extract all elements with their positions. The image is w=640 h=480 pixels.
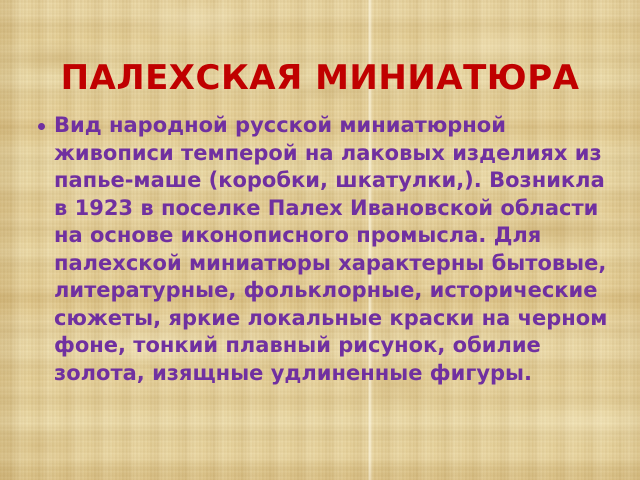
list-item-text: Вид народной русской миниатюрной живопис… xyxy=(54,112,610,387)
slide-body-list: Вид народной русской миниатюрной живопис… xyxy=(30,112,610,387)
slide-content: ПАЛЕХСКАЯ МИНИАТЮРА Вид народной русской… xyxy=(0,0,640,480)
slide-title: ПАЛЕХСКАЯ МИНИАТЮРА xyxy=(0,56,640,100)
bullet-dot-icon xyxy=(38,123,45,130)
slide-canvas: ПАЛЕХСКАЯ МИНИАТЮРА Вид народной русской… xyxy=(0,0,640,480)
list-item: Вид народной русской миниатюрной живопис… xyxy=(30,112,610,387)
